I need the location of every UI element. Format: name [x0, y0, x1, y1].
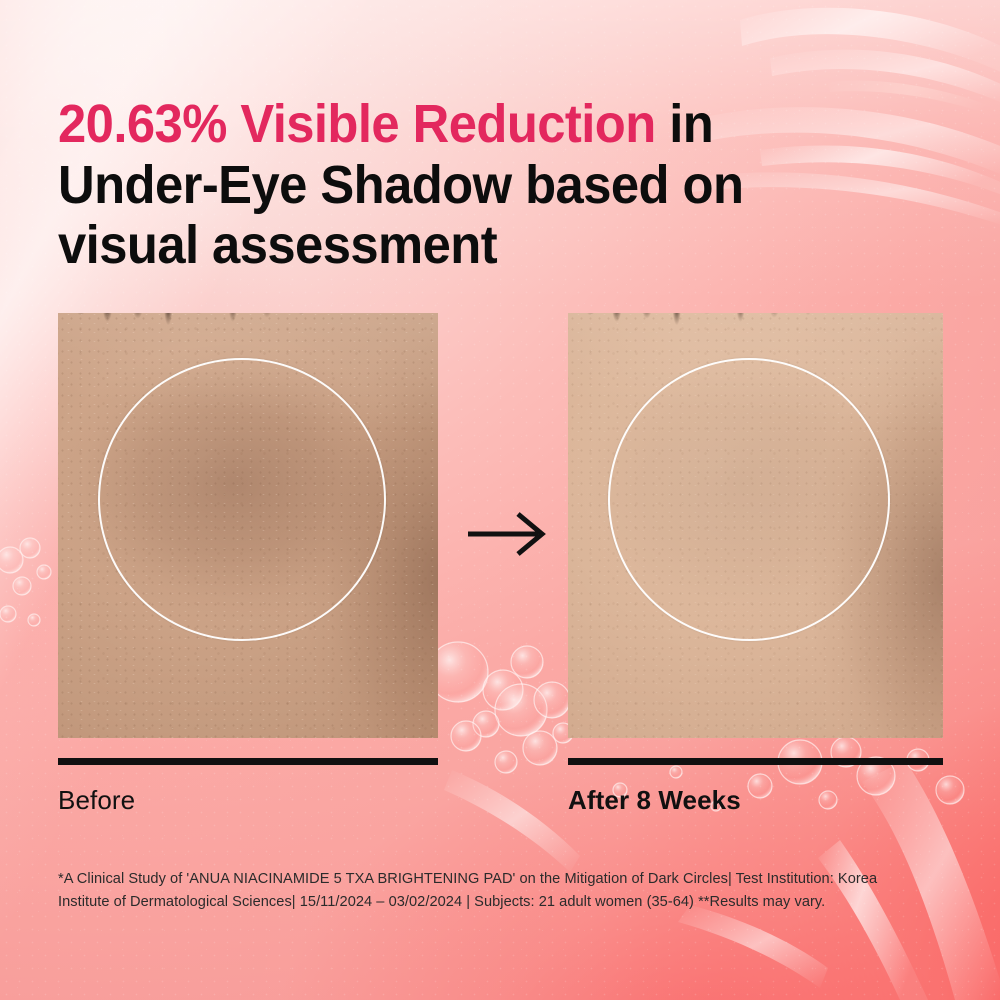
- footnote-disclaimer: *A Clinical Study of 'ANUA NIACINAMIDE 5…: [58, 868, 916, 914]
- after-photo: [568, 313, 943, 738]
- assessment-circle-icon: [608, 358, 890, 641]
- before-brow-hairs: [58, 313, 438, 359]
- before-photo: [58, 313, 438, 738]
- headline-line2: Under-Eye Shadow based on: [58, 155, 743, 215]
- arrow-right-icon: [464, 510, 556, 558]
- headline-line1-tail: in: [656, 94, 714, 154]
- headline-line3: visual assessment: [58, 215, 497, 275]
- after-divider-rule: [568, 758, 943, 765]
- after-brow-hairs: [568, 313, 943, 359]
- headline-accent: 20.63% Visible Reduction: [58, 94, 656, 154]
- headline: 20.63% Visible Reduction in Under-Eye Sh…: [58, 94, 885, 275]
- before-divider-rule: [58, 758, 438, 765]
- before-caption: Before: [58, 785, 135, 816]
- infographic-canvas: 20.63% Visible Reduction in Under-Eye Sh…: [0, 0, 1000, 1000]
- assessment-circle-icon: [98, 358, 386, 641]
- after-caption: After 8 Weeks: [568, 785, 741, 816]
